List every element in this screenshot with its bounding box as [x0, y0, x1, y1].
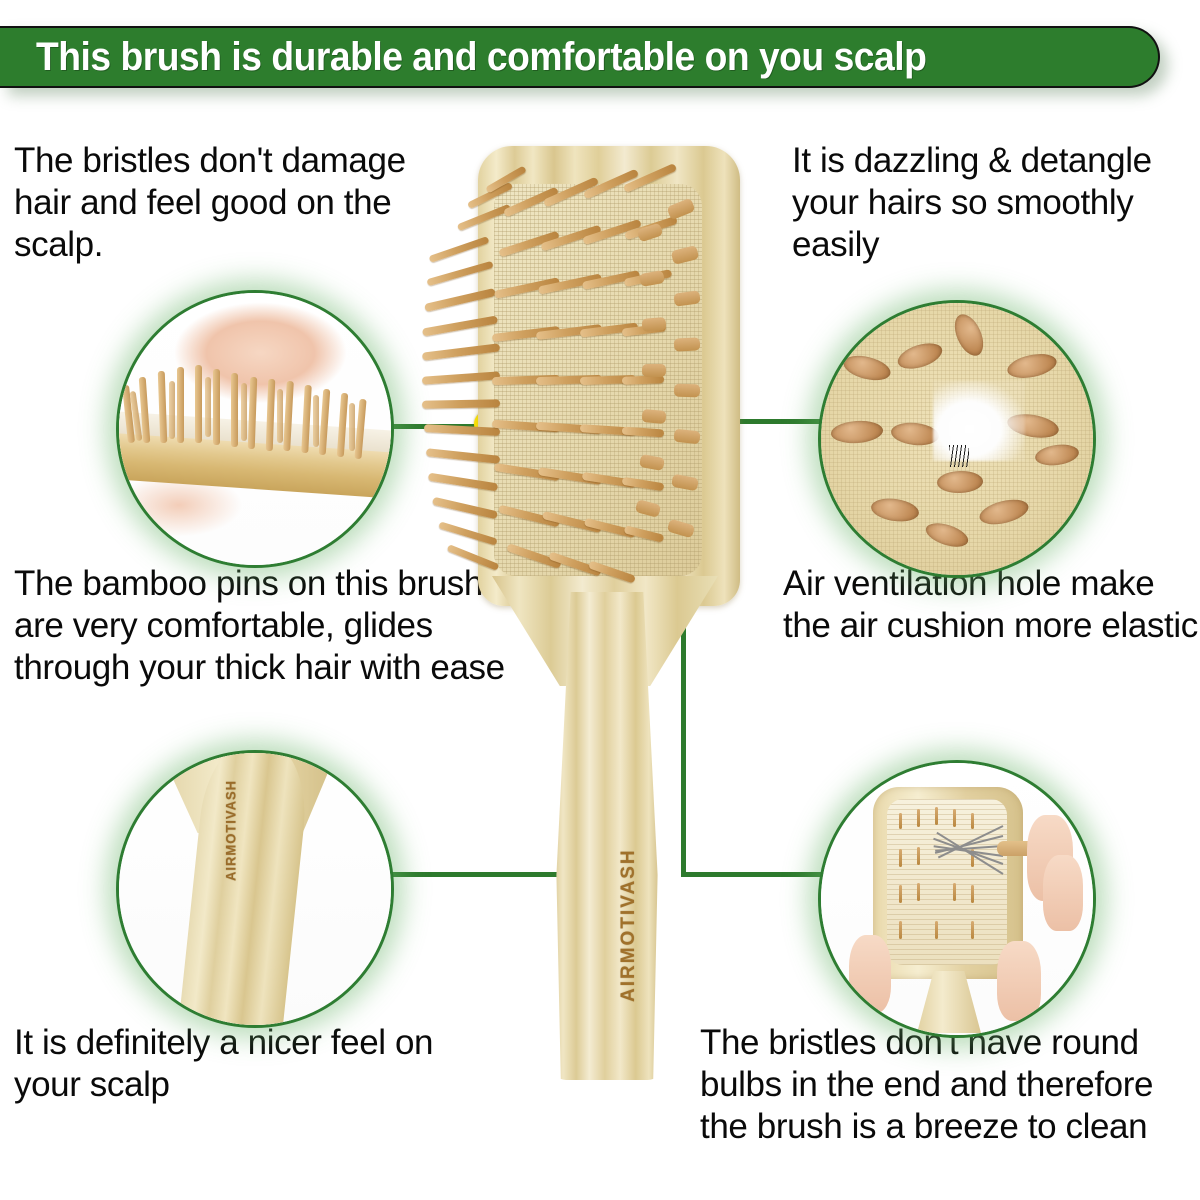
- caption-top-right: It is dazzling & detangle your hairs so …: [792, 140, 1200, 266]
- brush-brand-engraving: AIRMOTIVASH: [618, 848, 640, 1002]
- infographic-canvas: This brush is durable and comfortable on…: [0, 0, 1200, 1200]
- header-banner: This brush is durable and comfortable on…: [0, 26, 1160, 88]
- callout-circle-cleaning-brush[interactable]: [818, 760, 1096, 1038]
- photo-cleaning-brush: [821, 763, 1093, 1035]
- caption-top-left: The bristles don't damage hair and feel …: [14, 140, 464, 266]
- handle-engraving-text: AIRMOTIVASH: [223, 780, 239, 881]
- photo-hand-on-bristles: [119, 293, 391, 565]
- callout-circle-bamboo-handle[interactable]: AIRMOTIVASH: [116, 750, 394, 1028]
- caption-bottom-left: It is definitely a nicer feel on your sc…: [14, 1022, 494, 1106]
- caption-bottom-right: The bristles don't have round bulbs in t…: [700, 1022, 1200, 1148]
- callout-circle-air-cushion-hole[interactable]: [818, 300, 1096, 578]
- caption-middle-right: Air ventilation hole make the air cushio…: [783, 563, 1200, 647]
- callout-circle-hand-on-bristles[interactable]: [116, 290, 394, 568]
- banner-title: This brush is durable and comfortable on…: [36, 35, 926, 80]
- feather-icon: [933, 381, 1025, 461]
- feather-quill: [949, 445, 969, 467]
- photo-bamboo-handle: AIRMOTIVASH: [119, 753, 391, 1025]
- photo-air-cushion-hole: [821, 303, 1093, 575]
- product-image-bamboo-brush: AIRMOTIVASH: [432, 140, 772, 1080]
- brush-handle: [552, 592, 662, 1080]
